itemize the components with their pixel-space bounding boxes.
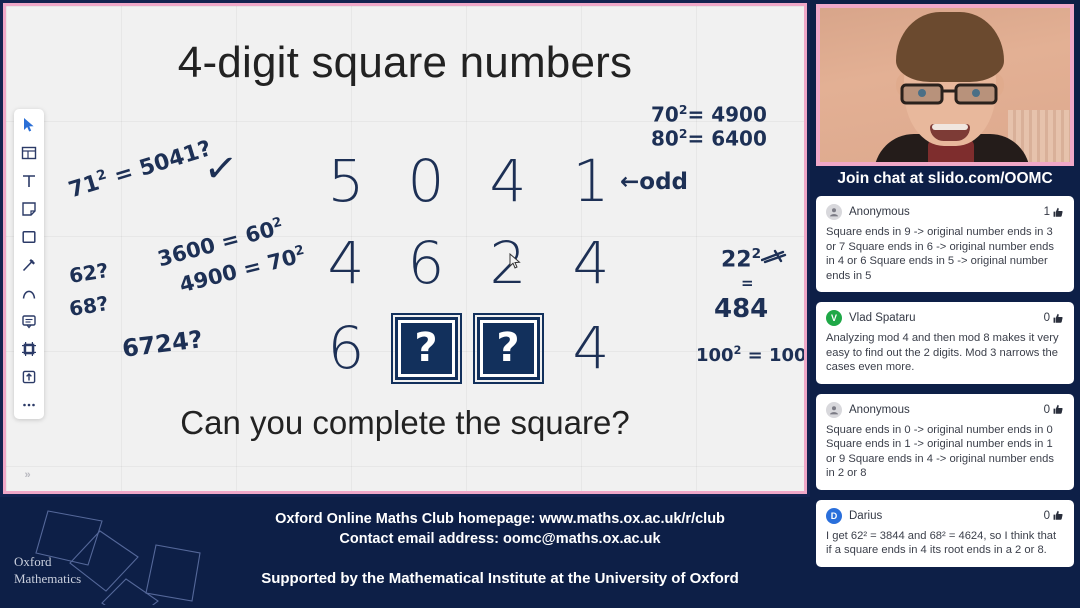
chat-author: Vlad Spataru [849, 312, 1044, 324]
scribble-mark [761, 249, 787, 265]
digit-cell: 4 [551, 223, 631, 303]
unknown-digit-box[interactable]: ? [386, 308, 466, 388]
chat-message-text: Analyzing mod 4 and then mod 8 makes it … [826, 331, 1064, 375]
chat-like-count[interactable]: 1 [1044, 206, 1064, 218]
annotation-484: 484 [714, 294, 768, 324]
annotation-70-squared: 702= 4900 [651, 102, 767, 127]
chat-message-text: I get 62² = 3844 and 68² = 4624, so I th… [826, 529, 1064, 558]
chat-like-count[interactable]: 0 [1044, 404, 1064, 416]
digit-row: 6 ? ? 4 [306, 308, 626, 388]
digit-cell: 6 [386, 223, 466, 303]
curve-tool[interactable] [20, 283, 39, 302]
slido-join-title: Join chat at slido.com/OOMC [810, 170, 1080, 188]
text-tool[interactable] [20, 171, 39, 190]
slide-question: Can you complete the square? [6, 404, 804, 442]
like-count-value: 0 [1044, 312, 1050, 324]
thumbs-up-icon[interactable] [1053, 404, 1064, 415]
annotation-80-squared: 802= 6400 [651, 126, 767, 151]
digit-cell: 1 [551, 141, 631, 221]
digit-row: 4 6 2 4 [306, 223, 626, 303]
chat-message-text: Square ends in 9 -> original number ends… [826, 225, 1064, 283]
annotation-100-squared: 1002 = 10000 [696, 344, 804, 366]
select-tool[interactable] [20, 115, 39, 134]
unknown-digit-box[interactable]: ? [468, 308, 548, 388]
digit-cell: 5 [306, 141, 386, 221]
digit-cell: 4 [551, 308, 631, 388]
webcam-video[interactable] [816, 4, 1074, 166]
like-count-value: 0 [1044, 404, 1050, 416]
whiteboard-pink-frame: » 4-digit square numbers 712 = 5041? ✓ 3… [3, 3, 807, 494]
chat-author: Darius [849, 510, 1044, 522]
expand-panel-button[interactable]: » [15, 466, 39, 484]
annotation-equals: = [741, 274, 754, 292]
chat-message[interactable]: V Vlad Spataru 0 Analyzing mod 4 and the… [816, 302, 1074, 384]
annotation-68: 68? [67, 291, 110, 321]
thumbs-up-icon[interactable] [1053, 313, 1064, 324]
screen-root: » 4-digit square numbers 712 = 5041? ✓ 3… [0, 0, 1080, 608]
digit-cell: 0 [386, 141, 466, 221]
digit-cell: 4 [306, 223, 386, 303]
frame-tool[interactable] [20, 339, 39, 358]
upload-tool[interactable] [20, 367, 39, 386]
chat-message-list[interactable]: Anonymous 1 Square ends in 9 -> original… [816, 196, 1074, 606]
chat-message-header: Anonymous 1 [826, 204, 1064, 220]
digit-cell: 6 [306, 308, 386, 388]
glasses-icon [900, 82, 1000, 106]
user-avatar: D [826, 508, 842, 524]
chat-message-header: V Vlad Spataru 0 [826, 310, 1064, 326]
footer-bar: Oxford Mathematics Oxford Online Maths C… [0, 497, 810, 608]
logo-line-1: Oxford [14, 553, 81, 570]
thumbs-up-icon[interactable] [1053, 207, 1064, 218]
annotation-6724: 6724? [121, 325, 205, 363]
more-tools-icon[interactable] [20, 395, 39, 414]
logo-line-2: Mathematics [14, 570, 81, 587]
like-count-value: 1 [1044, 206, 1050, 218]
annotation-62: 62? [67, 258, 110, 288]
thumbs-up-icon[interactable] [1053, 510, 1064, 521]
chat-message[interactable]: D Darius 0 I get 62² = 3844 and 68² = 46… [816, 500, 1074, 567]
chat-message-header: Anonymous 0 [826, 402, 1064, 418]
shape-tool[interactable] [20, 227, 39, 246]
right-sidebar: Join chat at slido.com/OOMC Anonymous 1 … [810, 0, 1080, 608]
presenter-teeth [932, 124, 968, 130]
page-title: 4-digit square numbers [6, 38, 804, 88]
annotation-22-squared: 222 [721, 246, 761, 272]
chat-message[interactable]: Anonymous 0 Square ends in 0 -> original… [816, 394, 1074, 490]
whiteboard-region: » 4-digit square numbers 712 = 5041? ✓ 3… [0, 0, 810, 497]
chat-author: Anonymous [849, 206, 1044, 218]
digit-grid: 5 0 4 1 4 6 2 4 6 ? [306, 141, 626, 386]
whiteboard-toolbar [14, 109, 44, 419]
whiteboard-canvas[interactable]: » 4-digit square numbers 712 = 5041? ✓ 3… [6, 6, 804, 491]
anonymous-avatar-icon [826, 204, 842, 220]
user-avatar: V [826, 310, 842, 326]
annotation-tick: ✓ [202, 144, 240, 193]
chat-message[interactable]: Anonymous 1 Square ends in 9 -> original… [816, 196, 1074, 292]
chat-like-count[interactable]: 0 [1044, 510, 1064, 522]
digit-row: 5 0 4 1 [306, 141, 626, 221]
chat-like-count[interactable]: 0 [1044, 312, 1064, 324]
digit-cell: 4 [468, 141, 548, 221]
chat-message-text: Square ends in 0 -> original number ends… [826, 423, 1064, 481]
footer-email-line: Contact email address: oomc@maths.ox.ac.… [200, 531, 800, 547]
question-mark-box: ? [395, 317, 458, 380]
comment-tool[interactable] [20, 311, 39, 330]
footer-homepage-line: Oxford Online Maths Club homepage: www.m… [200, 511, 800, 527]
pen-tool[interactable] [20, 255, 39, 274]
template-tool[interactable] [20, 143, 39, 162]
anonymous-avatar-icon [826, 402, 842, 418]
question-mark-box: ? [477, 317, 540, 380]
digit-cell: 2 [468, 223, 548, 303]
sticky-note-tool[interactable] [20, 199, 39, 218]
chat-author: Anonymous [849, 404, 1044, 416]
footer-logo-text: Oxford Mathematics [14, 553, 81, 587]
footer-support-line: Supported by the Mathematical Institute … [200, 570, 800, 587]
presenter-hair [896, 12, 1004, 82]
mouse-cursor-icon [509, 253, 523, 271]
like-count-value: 0 [1044, 510, 1050, 522]
chat-message-header: D Darius 0 [826, 508, 1064, 524]
annotation-71-squared: 712 = 5041? [65, 135, 214, 203]
